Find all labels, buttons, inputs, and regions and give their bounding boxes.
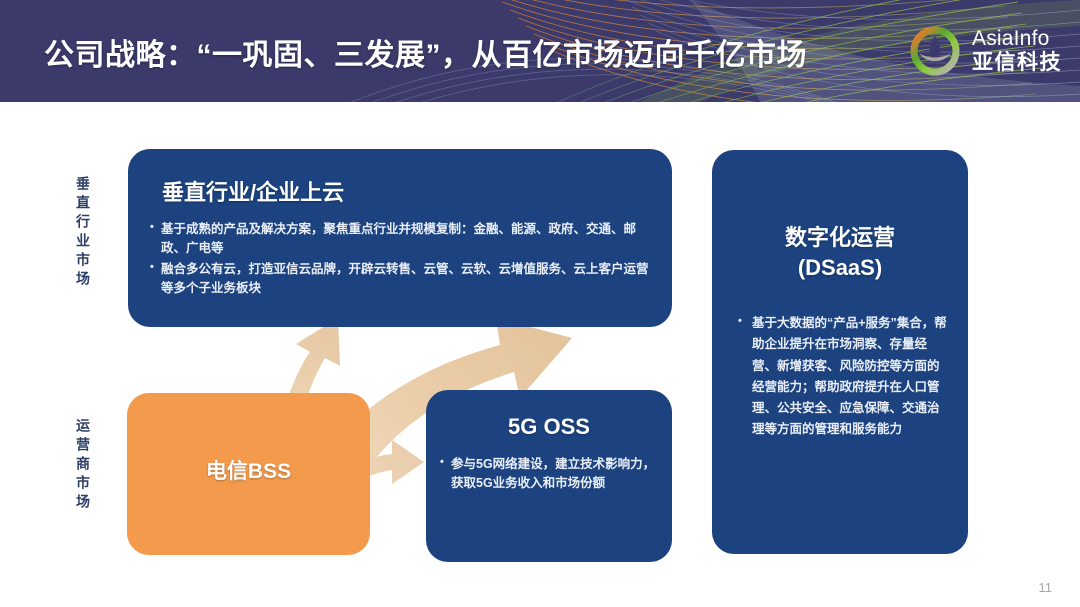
card-title-dsaas-line1: 数字化运营	[712, 223, 968, 253]
card-title-5g-oss: 5G OSS	[426, 414, 672, 440]
logo-english-name: AsiaInfo	[972, 28, 1062, 50]
side-label-operator-market: 运营商市场	[76, 418, 90, 513]
card-5g-oss[interactable]: 5G OSS 参与5G网络建设，建立技术影响力，获取5G业务收入和市场份额	[426, 390, 672, 562]
card-title-dsaas-line2: (DSaaS)	[712, 253, 968, 283]
logo-wordmark: AsiaInfo 亚信科技	[972, 28, 1062, 73]
card-digital-operation-dsaas[interactable]: 数字化运营 (DSaaS) 基于大数据的“产品+服务”集合，帮助企业提升在市场洞…	[712, 150, 968, 554]
asiainfo-ring-icon	[907, 23, 963, 79]
card-body-dsaas: 基于大数据的“产品+服务”集合，帮助企业提升在市场洞察、存量经营、新增获客、风险…	[738, 313, 950, 442]
card-title-telecom-bss: 电信BSS	[127, 455, 370, 485]
slide-canvas: 公司战略：“一巩固、三发展”，从百亿市场迈向千亿市场 AsiaInfo 亚信	[0, 0, 1080, 607]
bullet-item: 参与5G网络建设，建立技术影响力，获取5G业务收入和市场份额	[440, 455, 662, 494]
bullet-item: 融合多公有云，打造亚信云品牌，开辟云转售、云管、云软、云增值服务、云上客户运营等…	[150, 260, 650, 299]
page-title: 公司战略：“一巩固、三发展”，从百亿市场迈向千亿市场	[44, 30, 807, 74]
card-body-5g-oss: 参与5G网络建设，建立技术影响力，获取5G业务收入和市场份额	[440, 455, 662, 495]
logo-chinese-name: 亚信科技	[972, 52, 1062, 74]
card-telecom-bss[interactable]: 电信BSS	[127, 393, 370, 555]
bullet-item: 基于成熟的产品及解决方案，聚焦重点行业并规模复制：金融、能源、政府、交通、邮政、…	[150, 220, 650, 259]
card-vertical-industry[interactable]: 垂直行业/企业上云 基于成熟的产品及解决方案，聚焦重点行业并规模复制：金融、能源…	[128, 149, 672, 327]
page-number: 11	[1039, 580, 1053, 595]
bullet-item: 基于大数据的“产品+服务”集合，帮助企业提升在市场洞察、存量经营、新增获客、风险…	[738, 313, 950, 441]
asiainfo-logo: AsiaInfo 亚信科技	[907, 18, 1062, 84]
card-title-vertical-industry: 垂直行业/企业上云	[162, 175, 344, 207]
card-title-dsaas: 数字化运营 (DSaaS)	[712, 223, 968, 282]
slide-header: 公司战略：“一巩固、三发展”，从百亿市场迈向千亿市场 AsiaInfo 亚信	[0, 0, 1080, 102]
side-label-vertical-market: 垂直行业市场	[76, 176, 90, 290]
card-body-vertical-industry: 基于成熟的产品及解决方案，聚焦重点行业并规模复制：金融、能源、政府、交通、邮政、…	[150, 220, 650, 300]
